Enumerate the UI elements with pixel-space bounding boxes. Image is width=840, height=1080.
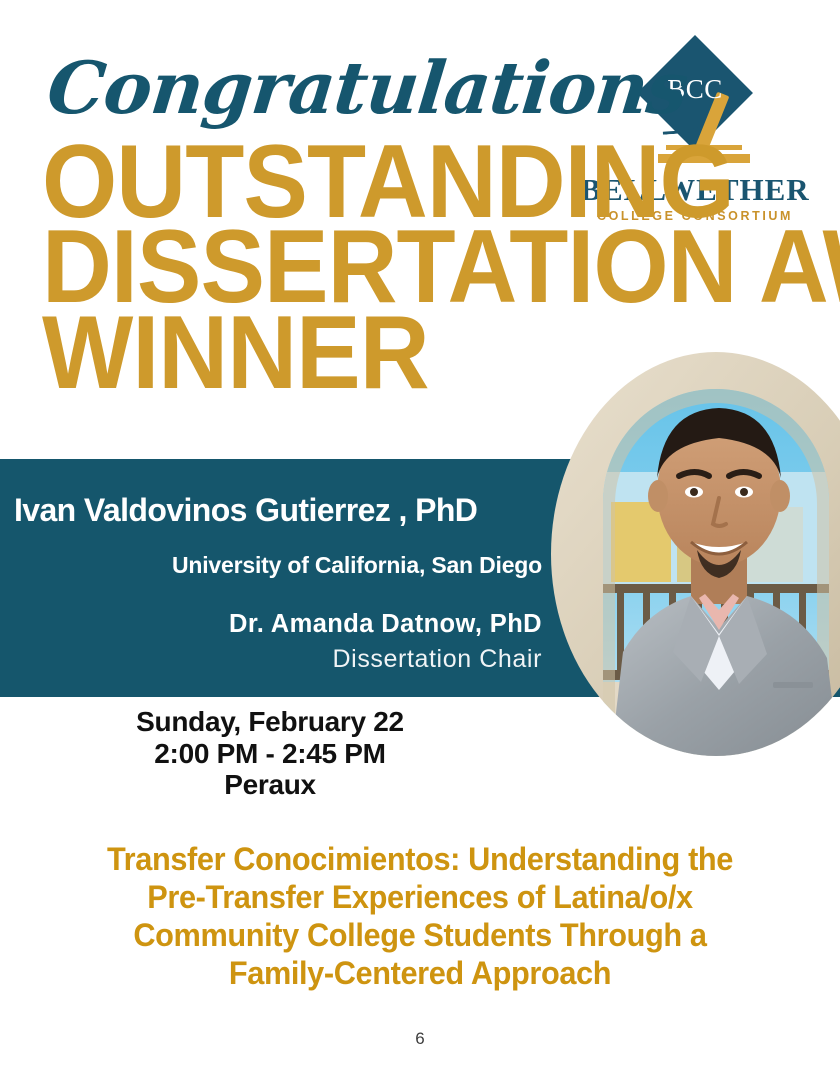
dissertation-title-line-1: Transfer Conocimientos: Understanding th… [70,840,771,878]
congratulations-script: Congratulations [44,52,690,124]
dissertation-title-line-2: Pre-Transfer Experiences of Latina/o/x [70,878,771,916]
dissertation-title-line-3: Community College Students Through a [70,916,771,954]
honoree-institution: University of California, San Diego [0,552,542,579]
event-room: Peraux [0,769,540,801]
honoree-name: Ivan Valdovinos Gutierrez , PhD [14,492,544,529]
honoree-band-content: Ivan Valdovinos Gutierrez , PhD Universi… [0,459,555,697]
event-date: Sunday, February 22 [0,706,540,738]
dissertation-chair-role: Dissertation Chair [0,645,542,674]
dissertation-title-line-4: Family-Centered Approach [70,954,771,992]
event-time: 2:00 PM - 2:45 PM [0,738,540,770]
dissertation-title: Transfer Conocimientos: Understanding th… [70,840,771,992]
award-slide: BCC BELLWETHER COLLEGE CONSORTIUM Congra… [0,0,840,1080]
event-details: Sunday, February 22 2:00 PM - 2:45 PM Pe… [0,706,540,801]
page-number: 6 [0,1029,840,1049]
dissertation-chair-name: Dr. Amanda Datnow, PhD [0,610,542,639]
